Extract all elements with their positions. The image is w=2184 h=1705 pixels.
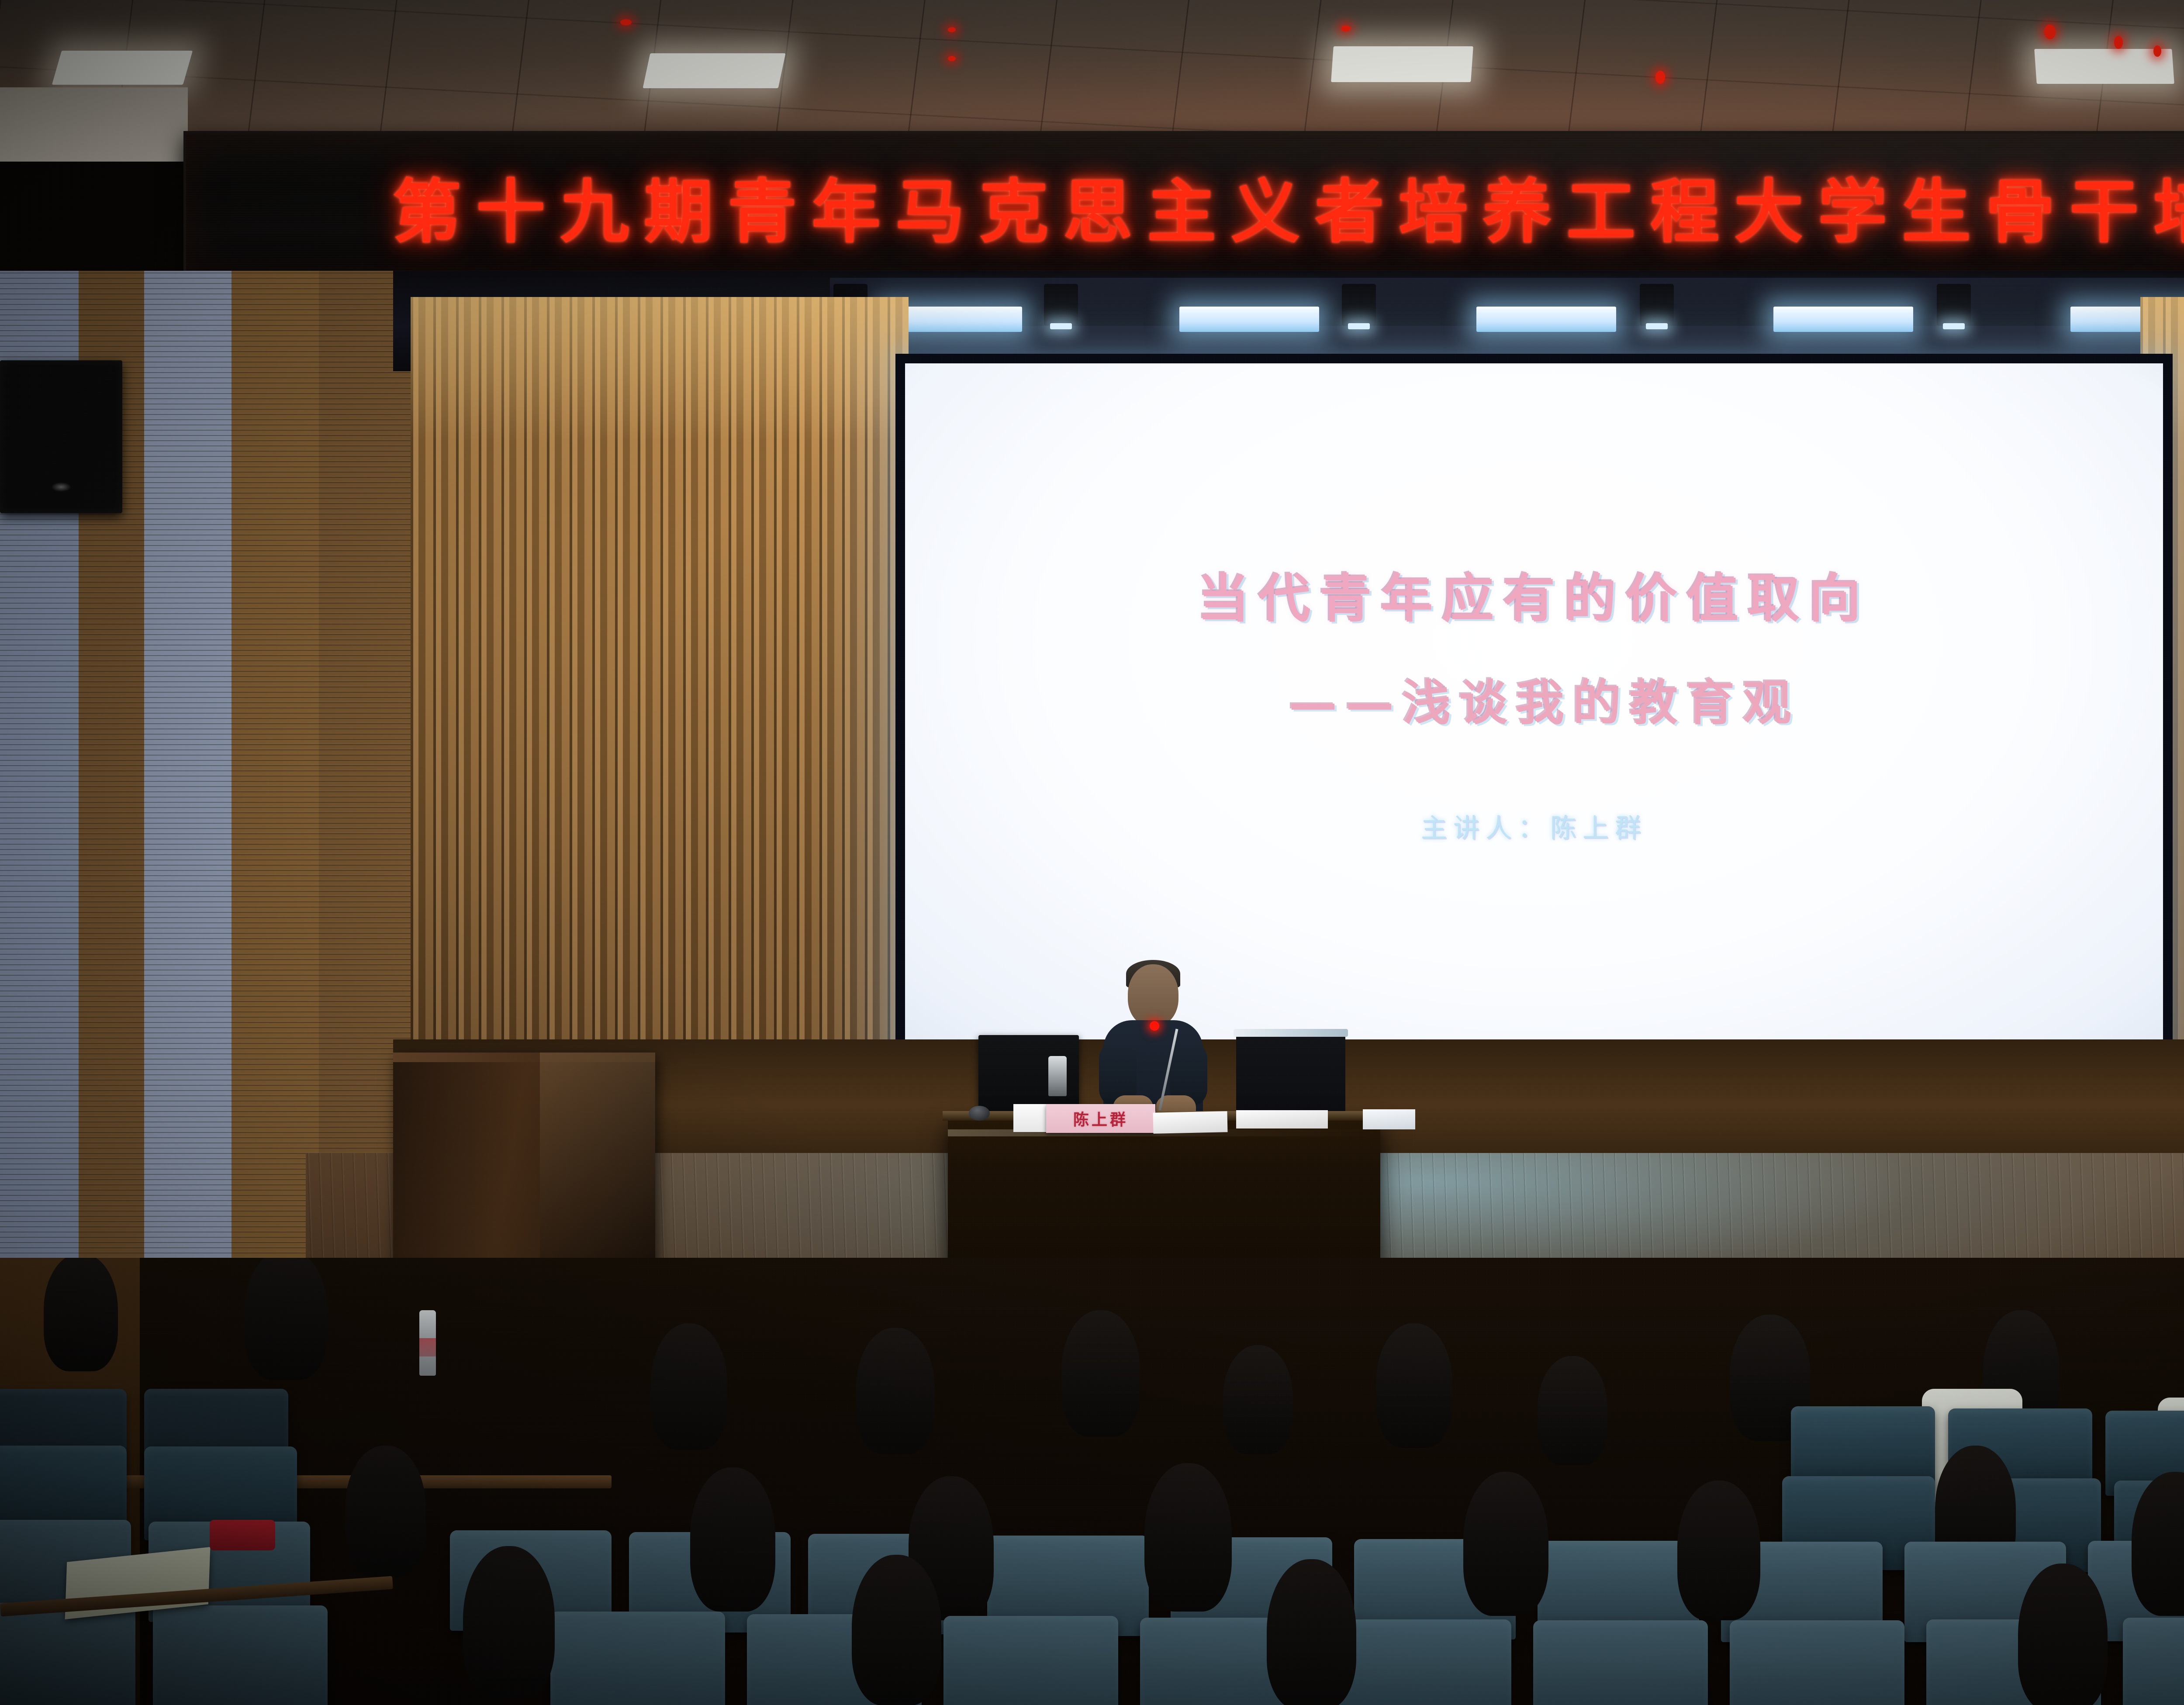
auditorium-seat (943, 1616, 1118, 1705)
audience-head (1267, 1559, 1356, 1705)
auditorium-seat (1730, 1620, 1904, 1705)
led-ceiling-reflection (620, 19, 632, 25)
placard-left-wing (1013, 1104, 1048, 1132)
upper-wall-left (0, 87, 188, 162)
ceiling (0, 0, 2184, 144)
name-placard-text: 陈上群 (1073, 1107, 1128, 1130)
presenter (1101, 964, 1206, 1122)
stage-spotlight (1044, 284, 1078, 326)
led-ceiling-reflection (2044, 24, 2056, 39)
ceiling-light-fixture (643, 53, 785, 88)
audience-head (1463, 1472, 1548, 1616)
slide-title: 当代青年应有的价值取向 (1198, 557, 1870, 632)
desk-papers (1363, 1109, 1415, 1129)
ceiling-light-fixture (2034, 49, 2174, 84)
stage-light-bar (1476, 307, 1616, 332)
projection-screen-frame: 当代青年应有的价值取向 ——浅谈我的教育观 主讲人：陈上群 (895, 354, 2173, 1063)
audience-head (1376, 1323, 1452, 1448)
led-ceiling-reflection (2153, 45, 2161, 57)
stage-light-bar (1179, 307, 1319, 332)
stage-curtain-left (411, 297, 909, 1096)
slide-author: 主讲人：陈上群 (1421, 807, 1647, 845)
stage-spotlight (1640, 284, 1674, 326)
ceiling-light-fixture (52, 51, 193, 85)
audience-head (1223, 1345, 1293, 1454)
audience-seating-area (0, 1258, 2184, 1705)
desk-papers (1153, 1111, 1228, 1134)
audience-head (345, 1446, 426, 1577)
podium-front-facet (540, 1053, 655, 1284)
ceiling-warm-wash (0, 0, 2184, 144)
water-bottle-audience (419, 1310, 436, 1376)
audience-head (44, 1258, 118, 1371)
ceiling-light-fixture (1331, 46, 1473, 82)
led-ceiling-reflection (2114, 36, 2123, 49)
led-ceiling-reflection (1341, 25, 1351, 31)
audience-head (1538, 1356, 1607, 1465)
audience-head (690, 1467, 775, 1612)
projection-screen: 当代青年应有的价值取向 ——浅谈我的教育观 主讲人：陈上群 (905, 363, 2163, 1053)
microphone-indicator-light (1150, 1021, 1159, 1031)
audience-head (463, 1546, 555, 1699)
stage-light-bar (1773, 307, 1913, 332)
auditorium-seat (153, 1605, 328, 1705)
wall-speaker-left (0, 360, 122, 513)
lectern-podium (393, 1053, 655, 1284)
audience-head (1061, 1310, 1140, 1437)
led-ceiling-reflection (948, 56, 956, 61)
audience-head (856, 1328, 935, 1454)
led-banner: 第十九期青年马克思主义者培养工程大学生骨干培训班专题报告 (183, 131, 2184, 280)
computer-mouse (969, 1106, 990, 1121)
led-banner-text: 第十九期青年马克思主义者培养工程大学生骨干培训班专题报告 (392, 156, 2184, 256)
auditorium-photo: 第十九期青年马克思主义者培养工程大学生骨干培训班专题报告 (0, 0, 2184, 1705)
audience-head (2018, 1563, 2108, 1705)
curtain-top-glow (411, 297, 909, 441)
auditorium-seat (550, 1612, 725, 1705)
name-placard: 陈上群 (1046, 1104, 1155, 1133)
spare-chair (1236, 1035, 1345, 1114)
led-ceiling-reflection (1655, 71, 1665, 84)
auditorium-seat (1337, 1619, 1511, 1705)
auditorium-seat (2123, 1618, 2184, 1705)
stage-spotlight (1937, 284, 1971, 326)
audience-head (1677, 1481, 1760, 1620)
wall-panel (144, 271, 232, 1332)
water-bottle-desk (1048, 1056, 1067, 1096)
red-item-on-desk (210, 1520, 275, 1550)
led-ceiling-reflection (948, 27, 956, 32)
stage-spotlight (1342, 284, 1376, 326)
desk-papers (1236, 1110, 1328, 1129)
presenter-head (1128, 964, 1178, 1026)
audience-head (245, 1258, 328, 1380)
audience-head (852, 1555, 941, 1705)
slide-subtitle: ——浅谈我的教育观 (1289, 664, 1800, 734)
auditorium-seat (1533, 1620, 1708, 1705)
audience-head (1144, 1463, 1232, 1612)
audience-head (651, 1323, 727, 1450)
